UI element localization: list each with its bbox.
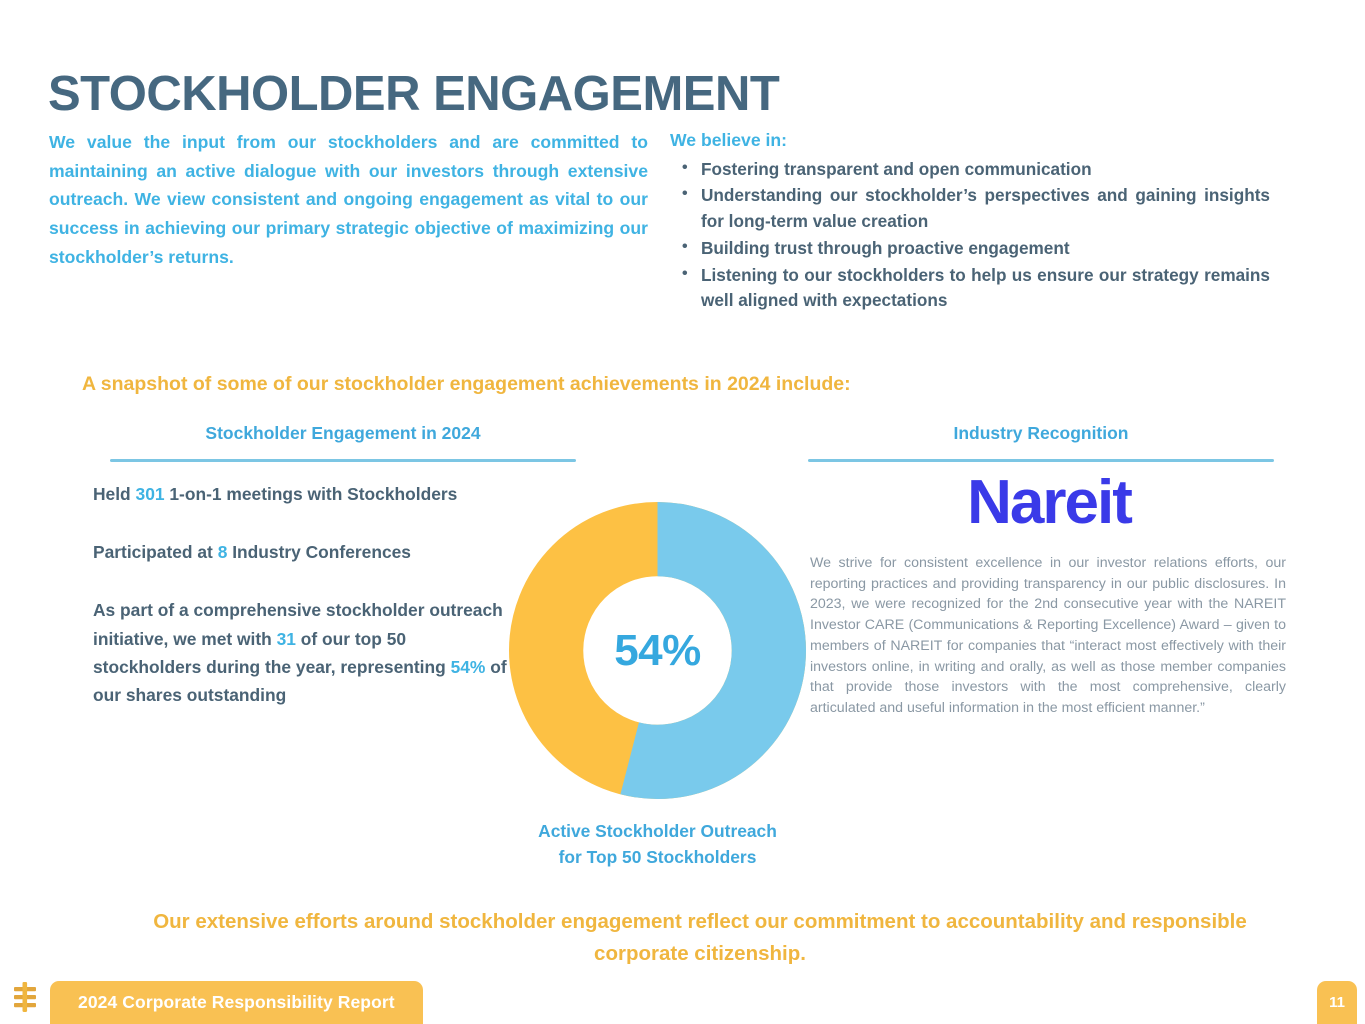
believe-list: Fostering transparent and open communica… xyxy=(670,157,1270,315)
list-item: Understanding our stockholder’s perspect… xyxy=(670,183,1270,235)
donut-chart-caption: Active Stockholder Outreach for Top 50 S… xyxy=(480,818,835,870)
achievement-value-secondary: 54% xyxy=(451,657,486,677)
nareit-logo: Nareit xyxy=(923,472,1175,534)
believe-item-label: Building trust through proactive engagem… xyxy=(701,238,1070,258)
intro-paragraph: We value the input from our stockholders… xyxy=(49,128,648,271)
donut-chart: 54% xyxy=(509,502,806,799)
achievements-list: Held 301 1-on-1 meetings with Stockholde… xyxy=(93,480,508,709)
footer-report-text: 2024 Corporate Responsibility Report xyxy=(78,992,395,1013)
list-item: Listening to our stockholders to help us… xyxy=(670,263,1270,315)
achievement-prefix: Participated at xyxy=(93,542,218,562)
believe-heading: We believe in: xyxy=(670,128,1270,154)
believe-item-label: Fostering transparent and open communica… xyxy=(701,159,1092,179)
industry-recognition-paragraph: We strive for consistent excellence in o… xyxy=(810,553,1286,719)
page-number-text: 11 xyxy=(1329,994,1345,1011)
section-header-recognition: Industry Recognition xyxy=(808,423,1274,444)
achievement-value: 31 xyxy=(277,629,296,649)
closing-statement: Our extensive efforts around stockholder… xyxy=(130,906,1270,970)
page-number-badge: 11 xyxy=(1317,981,1357,1024)
page-title: STOCKHOLDER ENGAGEMENT xyxy=(48,69,779,120)
donut-caption-line2: for Top 50 Stockholders xyxy=(480,844,835,870)
believe-item-label: Listening to our stockholders to help us… xyxy=(701,265,1270,311)
achievement-suffix: Industry Conferences xyxy=(227,542,411,562)
company-logo-mark-icon xyxy=(8,978,42,1016)
believe-block: We believe in: Fostering transparent and… xyxy=(670,128,1270,315)
achievement-suffix: 1-on-1 meetings with Stockholders xyxy=(165,484,458,504)
company-logo-icon xyxy=(8,978,42,1016)
list-item: Building trust through proactive engagem… xyxy=(670,236,1270,262)
donut-caption-line1: Active Stockholder Outreach xyxy=(480,818,835,844)
section-header-engagement: Stockholder Engagement in 2024 xyxy=(110,423,576,444)
section-rule-left xyxy=(110,459,576,462)
footer-report-label[interactable]: 2024 Corporate Responsibility Report xyxy=(50,981,423,1024)
intro-paragraph-text: We value the input from our stockholders… xyxy=(49,132,648,267)
achievement-value: 301 xyxy=(136,484,165,504)
list-item: Fostering transparent and open communica… xyxy=(670,157,1270,183)
achievement-value: 8 xyxy=(218,542,228,562)
achievement-conferences: Participated at 8 Industry Conferences xyxy=(93,538,508,566)
achievement-prefix: Held xyxy=(93,484,136,504)
snapshot-subheading: A snapshot of some of our stockholder en… xyxy=(82,373,851,396)
achievement-meetings: Held 301 1-on-1 meetings with Stockholde… xyxy=(93,480,508,508)
achievement-outreach: As part of a comprehensive stockholder o… xyxy=(93,596,508,709)
donut-chart-svg xyxy=(509,502,806,799)
believe-item-label: Understanding our stockholder’s perspect… xyxy=(701,185,1270,231)
section-rule-right xyxy=(808,459,1274,462)
